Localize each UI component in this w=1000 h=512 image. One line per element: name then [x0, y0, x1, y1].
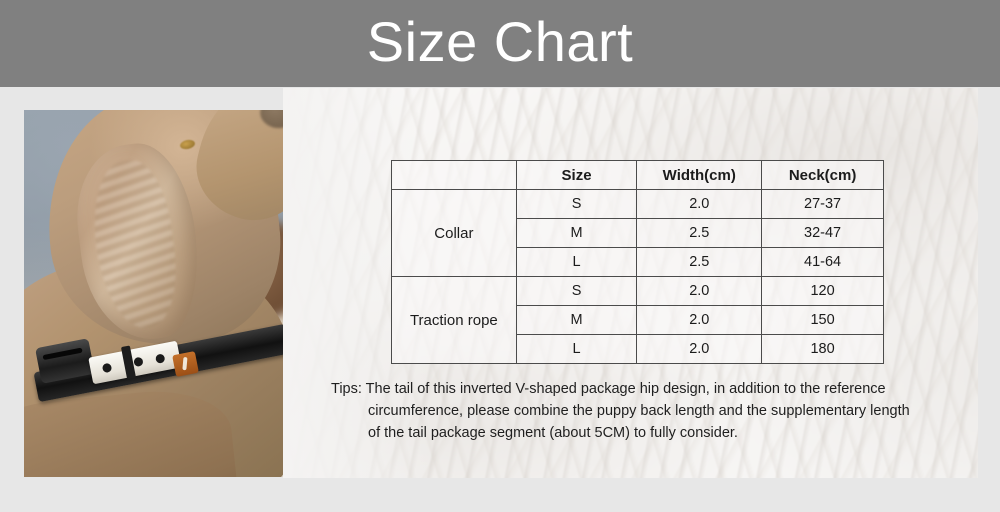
cell-size: M	[516, 219, 637, 248]
tips-line-3: of the tail package segment (about 5CM) …	[331, 422, 951, 444]
photo-collar-hole	[155, 353, 166, 364]
cell-width: 2.5	[637, 248, 762, 277]
cell-neck: 27-37	[762, 190, 884, 219]
photo-collar-hole	[133, 357, 144, 368]
cell-width: 2.0	[637, 306, 762, 335]
cell-neck: 180	[762, 335, 884, 364]
cell-size: S	[516, 277, 637, 306]
column-header-width: Width(cm)	[637, 161, 762, 190]
table-header-row: Size Width(cm) Neck(cm)	[392, 161, 884, 190]
group-label-collar: Collar	[392, 190, 517, 277]
product-photo	[24, 110, 283, 477]
table-row: Collar S 2.0 27-37	[392, 190, 884, 219]
column-header-neck: Neck(cm)	[762, 161, 884, 190]
table-row: Traction rope S 2.0 120	[392, 277, 884, 306]
group-label-traction-rope: Traction rope	[392, 277, 517, 364]
tips-block: Tips: The tail of this inverted V-shaped…	[331, 378, 951, 444]
column-header-group	[392, 161, 517, 190]
cell-width: 2.0	[637, 190, 762, 219]
cell-size: L	[516, 248, 637, 277]
tips-line-2: circumference, please combine the puppy …	[331, 400, 951, 422]
cell-width: 2.5	[637, 219, 762, 248]
cell-width: 2.0	[637, 277, 762, 306]
column-header-size: Size	[516, 161, 637, 190]
cell-size: S	[516, 190, 637, 219]
cell-width: 2.0	[637, 335, 762, 364]
cell-neck: 120	[762, 277, 884, 306]
size-chart-page: Size Chart	[0, 0, 1000, 512]
cell-neck: 32-47	[762, 219, 884, 248]
cell-neck: 41-64	[762, 248, 884, 277]
photo-collar-hole	[102, 363, 113, 374]
cell-size: M	[516, 306, 637, 335]
cell-neck: 150	[762, 306, 884, 335]
size-table: Size Width(cm) Neck(cm) Collar S 2.0 27-…	[391, 160, 884, 364]
page-title: Size Chart	[0, 0, 1000, 87]
tips-line-1: Tips: The tail of this inverted V-shaped…	[331, 378, 951, 400]
photo-collar-tag	[172, 351, 199, 377]
cell-size: L	[516, 335, 637, 364]
